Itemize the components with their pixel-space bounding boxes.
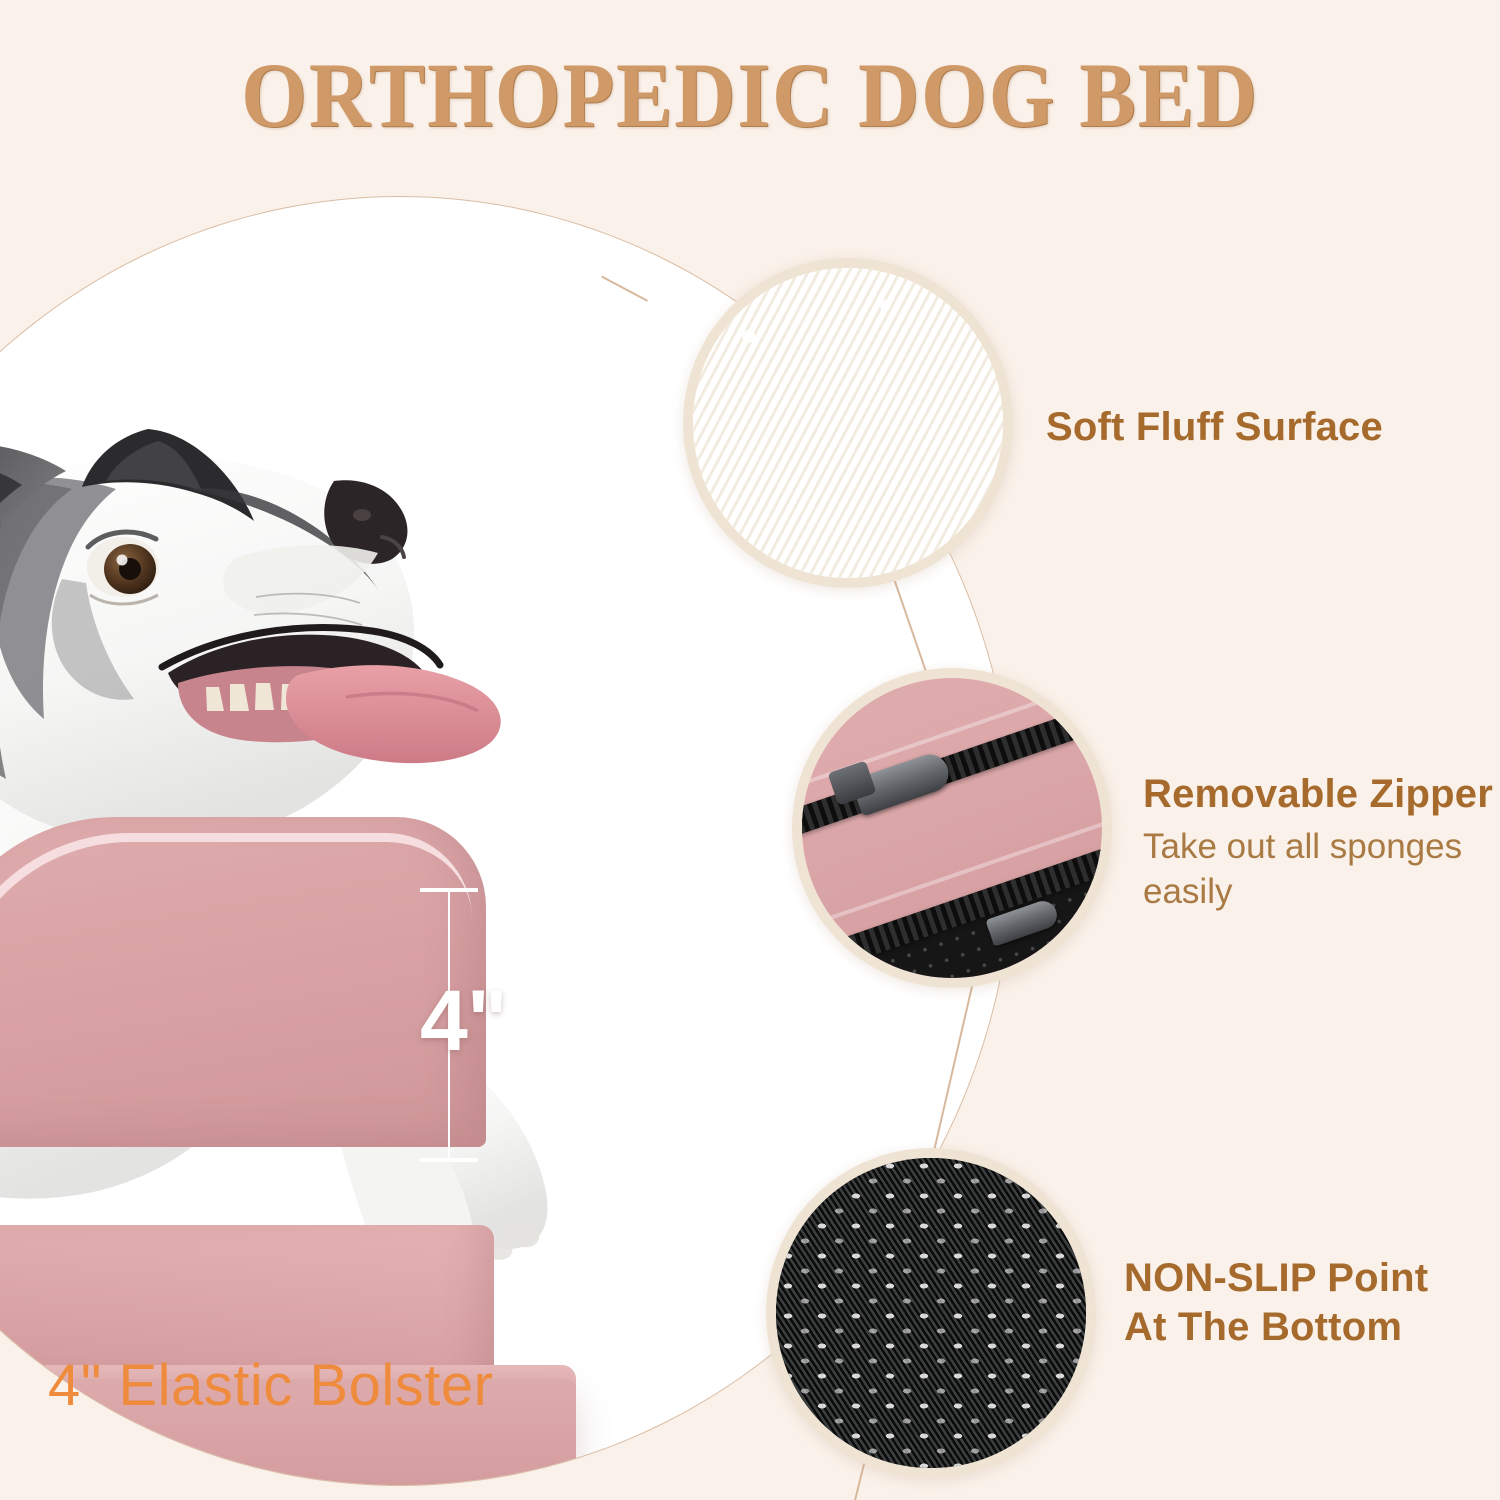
nonslip-dotted-texture — [766, 1148, 1096, 1478]
feature-swatch-non-slip — [766, 1148, 1096, 1478]
bolster-caption: 4" Elastic Bolster — [48, 1352, 493, 1419]
feature-label-non-slip: NON-SLIP Point At The Bottom — [1124, 1254, 1428, 1352]
feature-label-removable-zipper: Removable Zipper Take out all sponges ea… — [1143, 770, 1493, 914]
feature-title-removable-zipper: Removable Zipper — [1143, 770, 1493, 819]
zipper-texture — [802, 678, 1102, 978]
dimension-label: 4" — [420, 978, 507, 1064]
feature-subtitle-removable-zipper: Take out all sponges easily — [1143, 825, 1488, 915]
dimension-cap-bottom — [420, 1158, 478, 1162]
page-title: ORTHOPEDIC DOG BED — [60, 42, 1440, 148]
feature-swatch-removable-zipper — [792, 668, 1112, 988]
dimension-cap-top — [420, 888, 478, 892]
feature-label-soft-fluff: Soft Fluff Surface — [1046, 403, 1383, 452]
product-infographic: ORTHOPEDIC DOG BED — [0, 0, 1500, 1500]
feature-subtitle-non-slip: At The Bottom — [1124, 1303, 1428, 1352]
feature-title-soft-fluff: Soft Fluff Surface — [1046, 403, 1383, 452]
bolster-piping-trim — [0, 833, 472, 1151]
feature-title-non-slip: NON-SLIP Point — [1124, 1254, 1428, 1303]
sherpa-fleece-texture — [693, 268, 1003, 578]
bolster-height-dimension-line: 4" — [448, 890, 450, 1160]
feature-swatch-soft-fluff — [683, 258, 1013, 588]
